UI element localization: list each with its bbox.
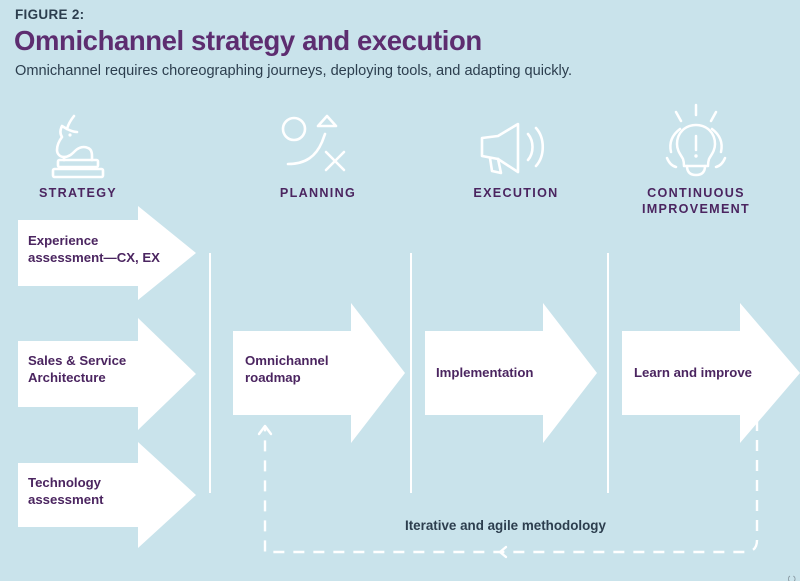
source-credit-wrapper: Source: TTEC bbox=[778, 461, 800, 581]
source-credit: Source: TTEC bbox=[786, 575, 798, 581]
feedback-loop-label: Iterative and agile methodology bbox=[405, 518, 606, 533]
figure-container: FIGURE 2: Omnichannel strategy and execu… bbox=[0, 0, 800, 581]
feedback-loop-path bbox=[0, 0, 800, 581]
